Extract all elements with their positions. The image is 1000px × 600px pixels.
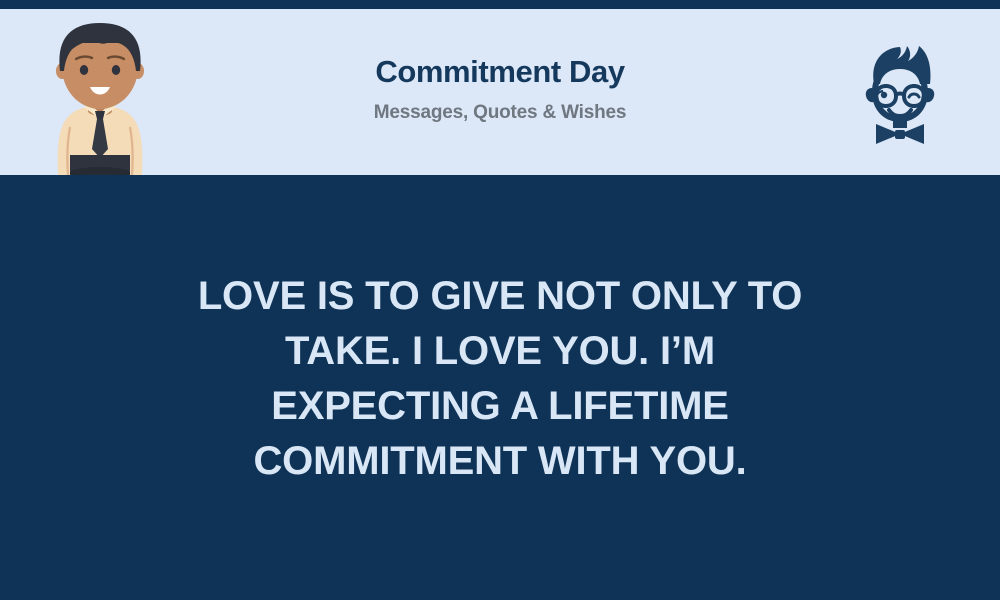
quote-line-4: COMMITMENT WITH YOU.	[150, 434, 850, 489]
header-band: Commitment Day Messages, Quotes & Wishes	[0, 9, 1000, 175]
quote-line-3: EXPECTING A LIFETIME	[150, 379, 850, 434]
site-subtitle: Messages, Quotes & Wishes	[200, 102, 800, 124]
quote-text: LOVE IS TO GIVE NOT ONLY TO TAKE. I LOVE…	[150, 269, 850, 489]
header-title-block: Commitment Day Messages, Quotes & Wishes	[200, 54, 800, 131]
top-accent-rule	[0, 0, 1000, 9]
quote-body: LOVE IS TO GIVE NOT ONLY TO TAKE. I LOVE…	[0, 175, 1000, 600]
quote-card: Commitment Day Messages, Quotes & Wishes	[0, 0, 1000, 600]
quote-line-1: LOVE IS TO GIVE NOT ONLY TO	[150, 269, 850, 324]
quote-line-2: TAKE. I LOVE YOU. I’M	[150, 324, 850, 379]
site-title: Commitment Day	[200, 54, 800, 90]
nerdy-boy-logo	[800, 9, 1000, 175]
man-in-shirt-and-tie-illustration	[0, 9, 200, 175]
